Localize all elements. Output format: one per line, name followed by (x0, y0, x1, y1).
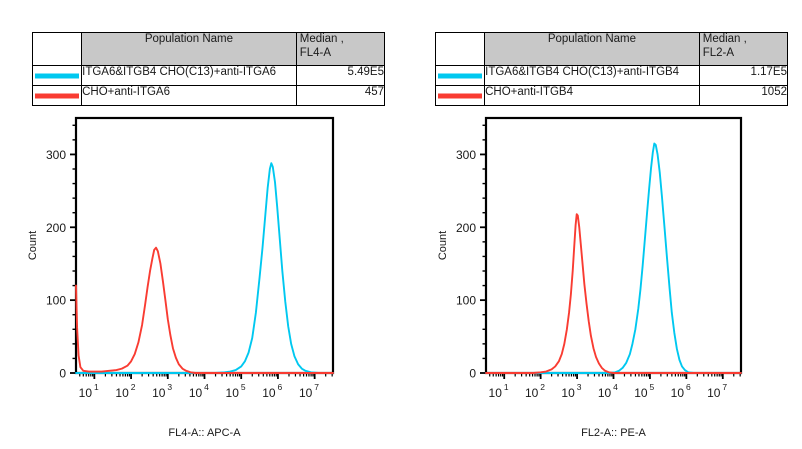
x-axis-tick-exponent: 4 (204, 382, 209, 392)
x-axis-tick-label: 10 (226, 386, 240, 400)
x-axis-tick-exponent: 1 (504, 382, 509, 392)
legend-header-swatch (33, 33, 82, 66)
color-swatch-line (35, 73, 79, 78)
plot-svg-left: 0100200300101102103104105106107FL4-A:: A… (0, 110, 401, 449)
y-axis-tick-label: 300 (46, 148, 66, 162)
panel-right: Population Name Median ,FL2-A ITGA6&ITGB… (401, 0, 802, 449)
y-axis-title: Count (27, 231, 39, 260)
x-axis-tick-exponent: 5 (241, 382, 246, 392)
histogram-plot-right: 0100200300101102103104105106107FL2-A:: P… (401, 110, 802, 449)
legend-header-median: Median ,FL2-A (699, 33, 787, 66)
legend-header-population: Population Name (485, 33, 700, 66)
x-axis-tick-label: 10 (561, 386, 575, 400)
table-row: ITGA6&ITGB4 CHO(C13)+anti-ITGB4 1.17E5 (436, 66, 788, 86)
legend-median-value: 1052 (699, 86, 787, 106)
y-axis-tick-label: 100 (456, 294, 476, 308)
x-axis-tick-label: 10 (707, 386, 721, 400)
legend-header-median-line2: FL4-A (300, 47, 384, 60)
x-axis-title: FL4-A:: APC-A (168, 427, 241, 439)
plot-svg-right: 0100200300101102103104105106107FL2-A:: P… (401, 110, 802, 449)
x-axis-tick-exponent: 6 (278, 382, 283, 392)
x-axis-tick-exponent: 3 (577, 382, 582, 392)
y-axis-title: Count (437, 231, 449, 260)
color-swatch-line (35, 93, 79, 98)
legend-table-left: Population Name Median ,FL4-A ITGA6&ITGB… (32, 32, 385, 106)
x-axis-tick-label: 10 (598, 386, 612, 400)
color-swatch-line (438, 93, 482, 98)
legend-header-median-line2: FL2-A (703, 47, 787, 60)
x-axis-tick-label: 10 (634, 386, 648, 400)
legend-table-right: Population Name Median ,FL2-A ITGA6&ITGB… (435, 32, 788, 106)
legend-population-name: CHO+anti-ITGA6 (82, 86, 297, 106)
x-axis-tick-exponent: 7 (314, 382, 319, 392)
x-axis-title: FL2-A:: PE-A (581, 427, 646, 439)
y-axis-tick-label: 200 (456, 221, 476, 235)
legend-swatch-red (33, 86, 82, 106)
table-row: CHO+anti-ITGA6 457 (33, 86, 385, 106)
y-axis-tick-label: 0 (469, 367, 476, 381)
histogram-curve (486, 144, 741, 374)
y-axis-tick-label: 300 (456, 148, 476, 162)
legend-swatch-cyan (436, 66, 485, 86)
x-axis-tick-exponent: 2 (131, 382, 136, 392)
legend-header-population: Population Name (82, 33, 297, 66)
legend-population-name: CHO+anti-ITGB4 (485, 86, 700, 106)
x-axis-tick-label: 10 (489, 386, 503, 400)
table-row: ITGA6&ITGB4 CHO(C13)+anti-ITGA6 5.49E5 (33, 66, 385, 86)
histogram-curve (486, 214, 741, 373)
x-axis-tick-exponent: 1 (94, 382, 99, 392)
panel-left: Population Name Median ,FL4-A ITGA6&ITGB… (0, 0, 401, 449)
x-axis-tick-exponent: 5 (650, 382, 655, 392)
legend-swatch-red (436, 86, 485, 106)
y-axis-tick-label: 0 (59, 367, 66, 381)
table-row: CHO+anti-ITGB4 1052 (436, 86, 788, 106)
legend-header-median-line1: Median , (300, 33, 344, 45)
color-swatch-line (438, 73, 482, 78)
legend-header-median-line1: Median , (703, 33, 747, 45)
x-axis-tick-label: 10 (262, 386, 276, 400)
legend-header-median: Median ,FL4-A (296, 33, 384, 66)
x-axis-tick-label: 10 (299, 386, 313, 400)
legend-header-swatch (436, 33, 485, 66)
legend-population-name: ITGA6&ITGB4 CHO(C13)+anti-ITGB4 (485, 66, 700, 86)
histogram-curve (76, 163, 333, 373)
legend-population-name: ITGA6&ITGB4 CHO(C13)+anti-ITGA6 (82, 66, 297, 86)
x-axis-tick-label: 10 (152, 386, 166, 400)
x-axis-tick-label: 10 (79, 386, 93, 400)
legend-median-value: 457 (296, 86, 384, 106)
legend-swatch-cyan (33, 66, 82, 86)
legend-header-row: Population Name Median ,FL2-A (436, 33, 788, 66)
x-axis-tick-exponent: 7 (722, 382, 727, 392)
y-axis-tick-label: 200 (46, 221, 66, 235)
histogram-plot-left: 0100200300101102103104105106107FL4-A:: A… (0, 110, 401, 449)
x-axis-tick-exponent: 6 (686, 382, 691, 392)
legend-median-value: 5.49E5 (296, 66, 384, 86)
x-axis-tick-exponent: 4 (613, 382, 618, 392)
x-axis-tick-label: 10 (189, 386, 203, 400)
x-axis-tick-label: 10 (525, 386, 539, 400)
legend-median-value: 1.17E5 (699, 66, 787, 86)
y-axis-tick-label: 100 (46, 294, 66, 308)
x-axis-tick-label: 10 (115, 386, 129, 400)
legend-header-row: Population Name Median ,FL4-A (33, 33, 385, 66)
x-axis-tick-label: 10 (671, 386, 685, 400)
x-axis-tick-exponent: 2 (540, 382, 545, 392)
x-axis-tick-exponent: 3 (167, 382, 172, 392)
